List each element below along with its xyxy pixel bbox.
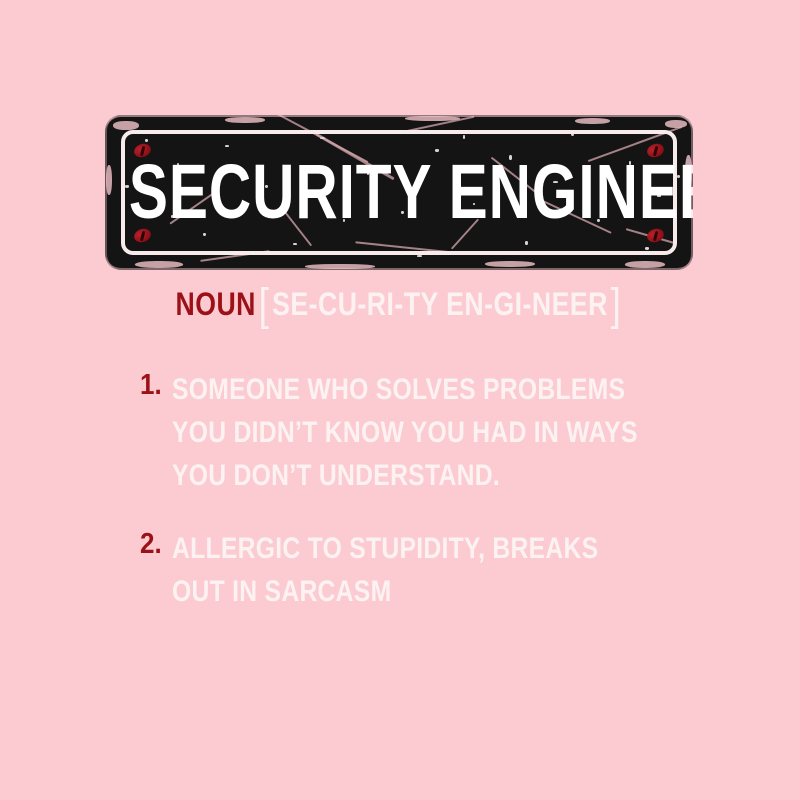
definition-line: OUT IN SARCASM [172, 567, 598, 616]
definition-line: ALLERGIC TO STUPIDITY, BREAKS [172, 524, 598, 573]
definition-text: SOMEONE WHO SOLVES PROBLEMS YOU DIDN’T K… [172, 368, 662, 497]
definition-list: 1. SOMEONE WHO SOLVES PROBLEMS YOU DIDN’… [140, 368, 660, 643]
plate-background: SECURITY ENGINEER [105, 115, 693, 270]
sign-plate: SECURITY ENGINEER [105, 115, 693, 270]
part-of-speech-label: NOUN [176, 287, 256, 323]
poster-canvas: SECURITY ENGINEER NOUN[SE-CU-RI-TY EN-GI… [0, 0, 800, 800]
definition-item: 2. ALLERGIC TO STUPIDITY, BREAKS OUT IN … [140, 527, 660, 613]
bracket-open: [ [256, 280, 272, 329]
definition-line: YOU DON’T UNDERSTAND. [172, 451, 638, 500]
definition-number: 2. [140, 527, 172, 559]
pronunciation-text: SE-CU-RI-TY EN-GI-NEER [272, 287, 608, 323]
definition-header: NOUN[SE-CU-RI-TY EN-GI-NEER] [0, 283, 800, 328]
sign-title: SECURITY ENGINEER [105, 161, 693, 224]
definition-text: ALLERGIC TO STUPIDITY, BREAKS OUT IN SAR… [172, 527, 621, 613]
bracket-close: ] [608, 280, 624, 329]
sign-title-text: SECURITY ENGINEER [129, 154, 693, 231]
definition-item: 1. SOMEONE WHO SOLVES PROBLEMS YOU DIDN’… [140, 368, 660, 497]
definition-line: SOMEONE WHO SOLVES PROBLEMS [172, 365, 638, 414]
definition-line: YOU DIDN’T KNOW YOU HAD IN WAYS [172, 408, 638, 457]
definition-number: 1. [140, 368, 172, 400]
